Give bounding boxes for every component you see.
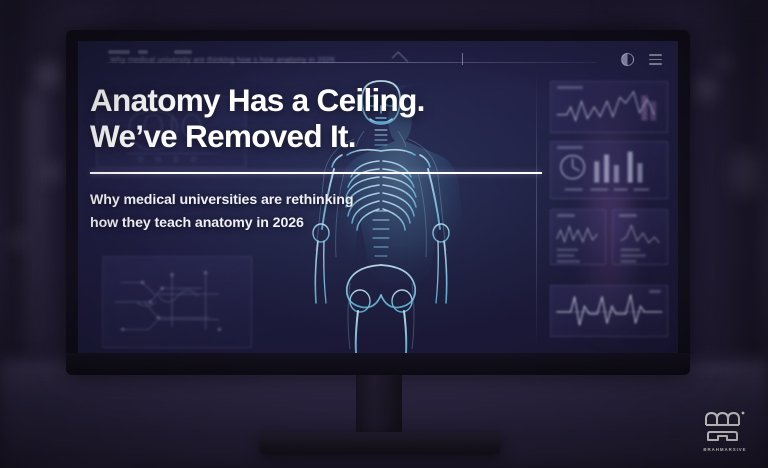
monitor-stand-base	[260, 432, 500, 454]
subtitle-line-1: Why medical universities are rethinking	[90, 192, 353, 208]
monitor-screen[interactable]: Why medical university are thinking how …	[78, 41, 678, 354]
bokeh-light-6	[730, 150, 760, 196]
bokeh-light-4	[694, 78, 716, 100]
monitor-bezel-bottom	[66, 353, 690, 375]
background-light-strip	[28, 90, 44, 350]
headline-divider	[90, 172, 542, 174]
subtitle: Why medical universities are rethinking …	[90, 189, 490, 235]
bokeh-light-5	[716, 56, 730, 70]
brahmarsive-mountain-mark	[702, 408, 748, 444]
headline-line-2: We’ve Removed It.	[90, 119, 570, 155]
bokeh-light-1	[36, 62, 62, 88]
scene: Why medical university are thinking how …	[0, 0, 768, 468]
hero-text-block: Anatomy Has a Ceiling. We’ve Removed It.…	[78, 41, 678, 354]
monitor: Why medical university are thinking how …	[66, 30, 690, 375]
brand-name: BRAHMARSIVE	[703, 447, 746, 452]
page-title: Anatomy Has a Ceiling. We’ve Removed It.	[90, 83, 570, 154]
headline-line-1: Anatomy Has a Ceiling.	[90, 82, 425, 118]
subtitle-line-2: how they teach anatomy in 2026	[90, 212, 490, 235]
brand-logo[interactable]: BRAHMARSIVE	[692, 408, 758, 452]
monitor-stand-neck	[356, 375, 402, 435]
bokeh-light-2	[44, 162, 64, 182]
bokeh-light-3	[10, 232, 26, 248]
